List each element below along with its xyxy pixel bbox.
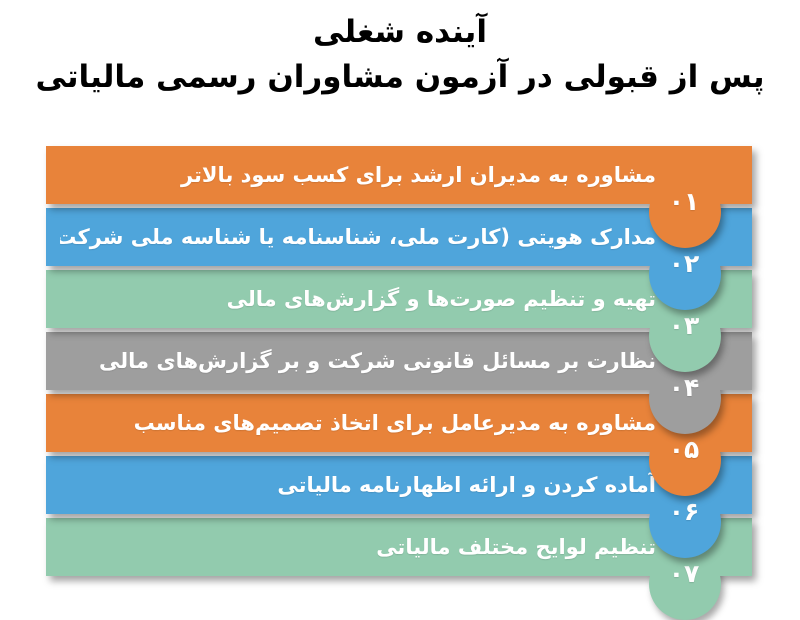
item-number: ۰۶ [656, 490, 712, 534]
page-title: آینده شغلی پس از قبولی در آزمون مشاوران … [0, 6, 800, 98]
item-number: ۰۲ [656, 242, 712, 286]
list-item[interactable]: ۰۲ مدارک هویتی (کارت ملی، شناسنامه یا شن… [46, 208, 752, 266]
list-item[interactable]: ۰۳ تهیه و تنظیم صورت‌ها و گزارش‌های مالی [46, 270, 752, 328]
list-item[interactable]: ۰۶ آماده کردن و ارائه اظهارنامه مالیاتی [46, 456, 752, 514]
infographic-canvas: آینده شغلی پس از قبولی در آزمون مشاوران … [0, 0, 800, 600]
item-number: ۰۱ [656, 180, 712, 224]
title-line-primary: آینده شغلی [0, 12, 800, 53]
item-label: مدارک هویتی (کارت ملی، شناسنامه یا شناسه… [60, 208, 656, 266]
banner-list: ۰۱ مشاوره به مدیران ارشد برای کسب سود با… [46, 146, 752, 576]
item-number: ۰۵ [656, 428, 712, 472]
list-item[interactable]: ۰۱ مشاوره به مدیران ارشد برای کسب سود با… [46, 146, 752, 204]
list-item[interactable]: ۰۷ تنظیم لوایح مختلف مالیاتی [46, 518, 752, 576]
item-label: نظارت بر مسائل قانونی شرکت و بر گزارش‌ها… [60, 332, 656, 390]
list-item[interactable]: ۰۵ مشاوره به مدیرعامل برای اتخاذ تصمیم‌ه… [46, 394, 752, 452]
item-label: مشاوره به مدیران ارشد برای کسب سود بالات… [60, 146, 656, 204]
item-label: تنظیم لوایح مختلف مالیاتی [60, 518, 656, 576]
item-number: ۰۷ [656, 552, 712, 596]
item-label: تهیه و تنظیم صورت‌ها و گزارش‌های مالی [60, 270, 656, 328]
title-line-secondary: پس از قبولی در آزمون مشاوران رسمی مالیات… [0, 57, 800, 98]
item-number: ۰۳ [656, 304, 712, 348]
item-label: آماده کردن و ارائه اظهارنامه مالیاتی [60, 456, 656, 514]
item-number: ۰۴ [656, 366, 712, 410]
item-label: مشاوره به مدیرعامل برای اتخاذ تصمیم‌های … [60, 394, 656, 452]
list-item[interactable]: ۰۴ نظارت بر مسائل قانونی شرکت و بر گزارش… [46, 332, 752, 390]
